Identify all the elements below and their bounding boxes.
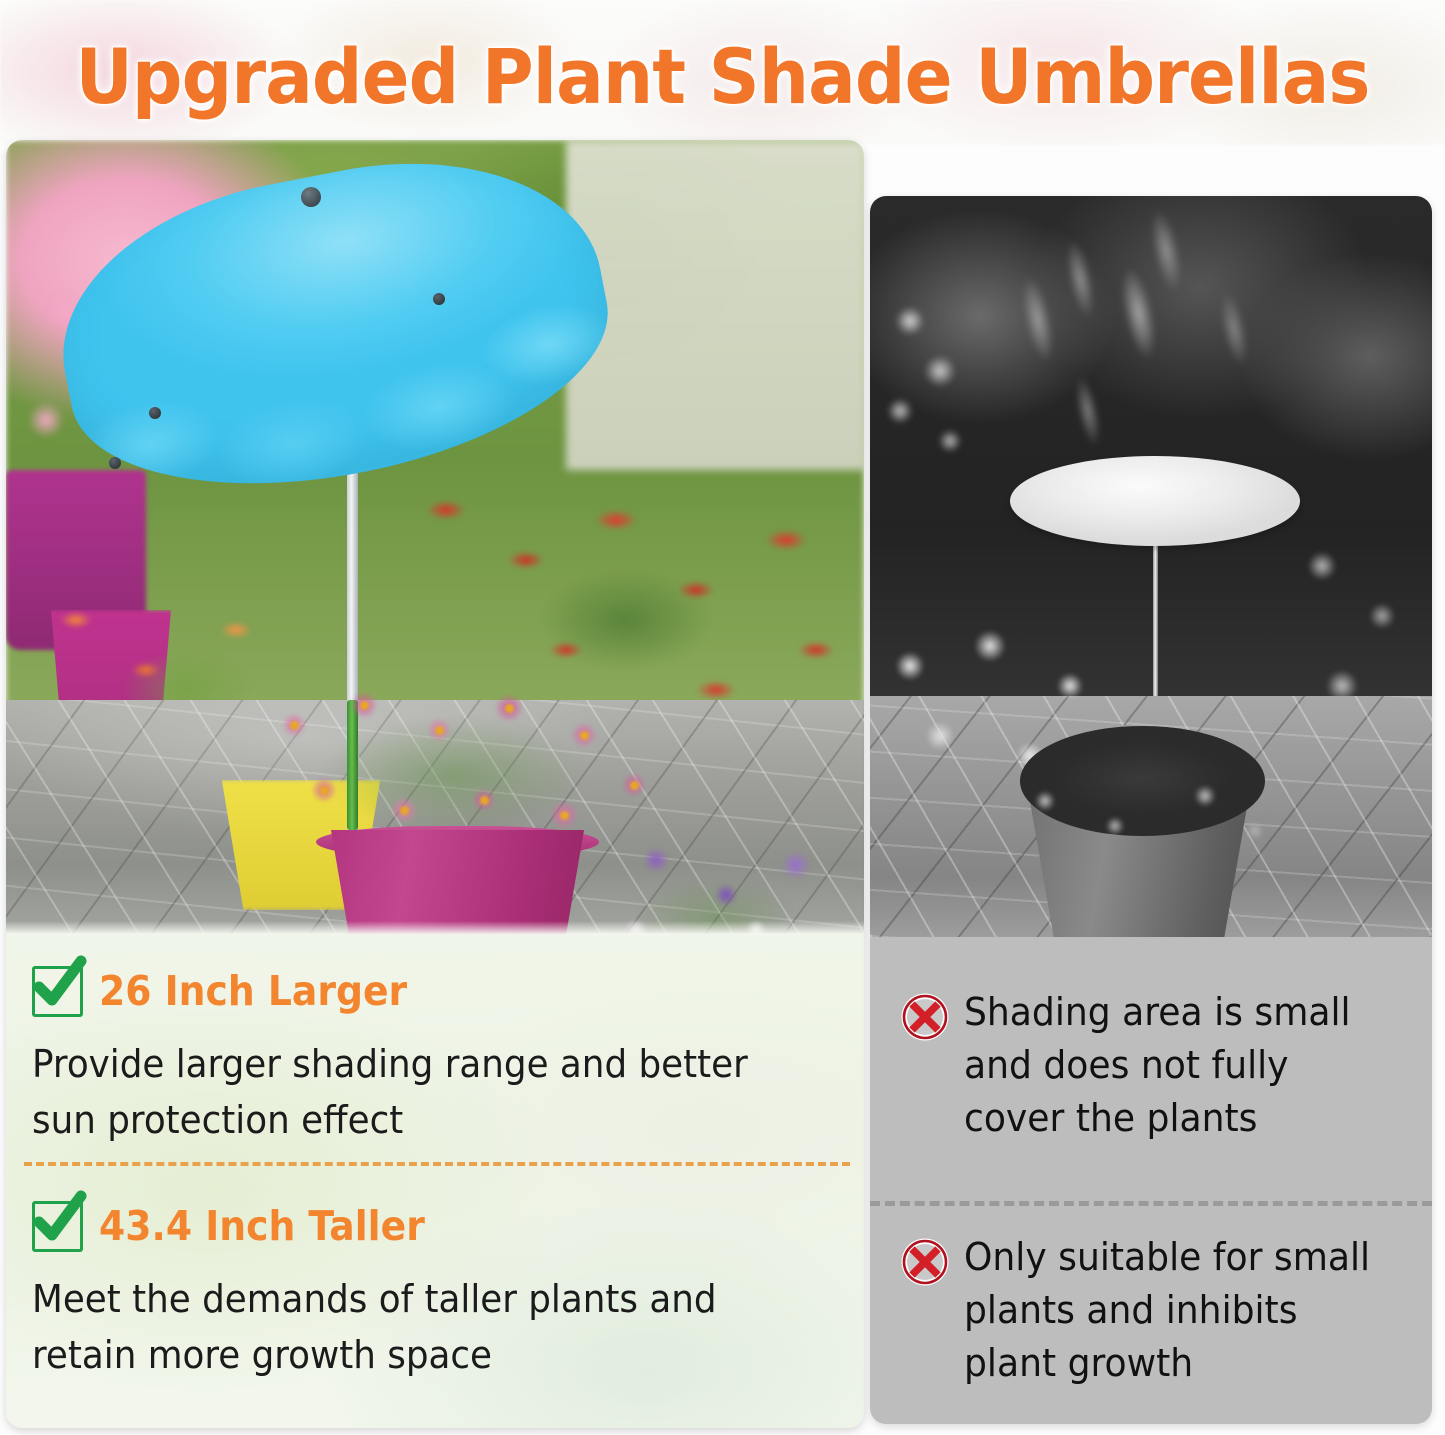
umbrella-rib-tip	[109, 457, 121, 469]
drawback-text: Shading area is small and does not fully…	[964, 986, 1393, 1145]
feature-title: 26 Inch Larger	[99, 968, 407, 1014]
light-flower-cluster	[870, 291, 990, 471]
check-icon	[32, 1201, 83, 1252]
feature-description: Meet the demands of taller plants and re…	[32, 1271, 784, 1383]
umbrella-rib-tip	[433, 293, 445, 305]
page-title: Upgraded Plant Shade Umbrellas	[51, 34, 1395, 120]
umbrella-scalloped-edge	[37, 140, 629, 524]
drawback-text: Only suitable for small plants and inhib…	[964, 1231, 1393, 1390]
infographic-root: Upgraded Plant Shade Umbrellas	[0, 0, 1445, 1435]
purple-petunia-cluster	[606, 820, 856, 935]
right-comparison-card: Shading area is small and does not fully…	[870, 196, 1432, 1424]
feature-title: 43.4 Inch Taller	[99, 1203, 425, 1249]
blue-shade-umbrella	[61, 175, 606, 505]
umbrella-rib-tip	[149, 407, 161, 419]
x-circle-icon	[900, 1237, 950, 1287]
feature-description: Provide larger shading range and better …	[32, 1036, 784, 1148]
x-circle-icon	[900, 992, 950, 1042]
left-comparison-card: 26 Inch Larger Provide larger shading ra…	[6, 140, 864, 1428]
small-flat-shade-disc	[1010, 456, 1300, 546]
left-divider	[24, 1162, 850, 1166]
ordinary-umbrella-photo	[870, 196, 1432, 937]
umbrella-top-knob	[301, 187, 321, 207]
right-divider	[870, 1201, 1432, 1206]
feature-item: 43.4 Inch Taller Meet the demands of tal…	[6, 1195, 864, 1383]
feature-item: 26 Inch Larger Provide larger shading ra…	[6, 960, 864, 1148]
garden-wall	[566, 140, 864, 470]
photo-bottom-fade	[6, 921, 864, 935]
check-icon	[32, 966, 83, 1017]
drawback-item: Shading area is small and does not fully…	[870, 986, 1432, 1145]
potted-plant-flowers	[1005, 741, 1285, 861]
drawback-item: Only suitable for small plants and inhib…	[870, 1231, 1432, 1390]
magenta-flower-pot	[320, 830, 595, 935]
upgraded-umbrella-photo	[6, 140, 864, 935]
